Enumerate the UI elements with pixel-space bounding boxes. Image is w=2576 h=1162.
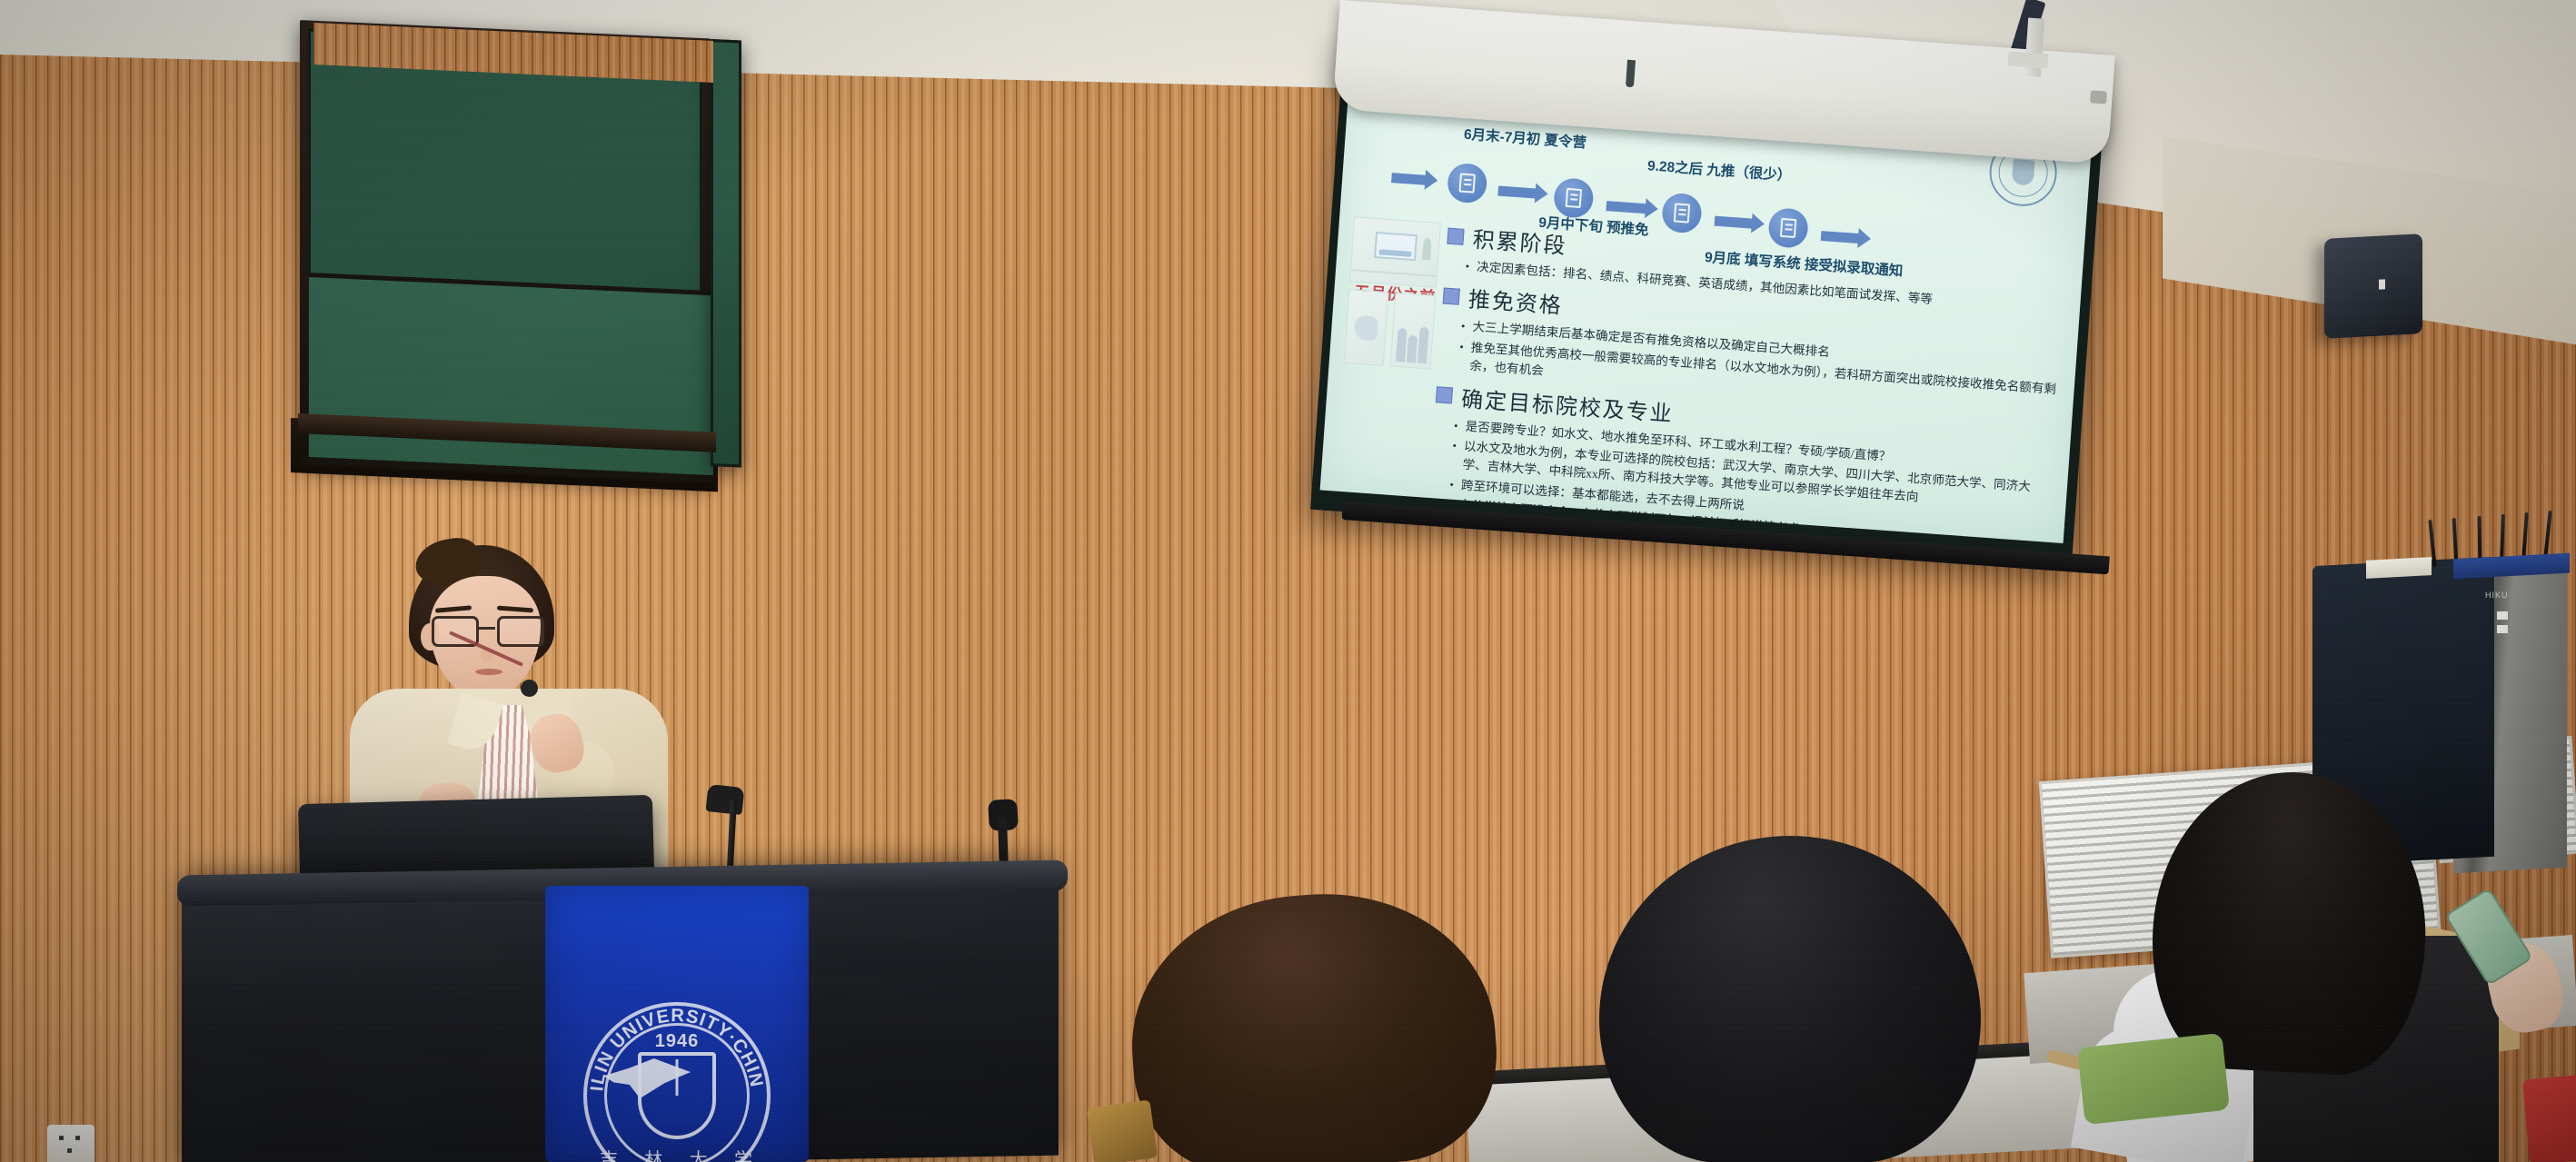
glasses-icon	[430, 616, 544, 647]
person-shape-icon	[1417, 327, 1428, 364]
rack-button-icon[interactable]	[2497, 611, 2508, 620]
bullet-dot-icon: •	[1453, 416, 1458, 435]
timeline-arrow-4	[1821, 231, 1860, 243]
thumbnail-hand-writing	[1344, 289, 1389, 366]
bullet-dot-icon: •	[1460, 317, 1466, 336]
thumbnail-row	[1343, 289, 1436, 377]
socket-hole	[59, 1136, 64, 1140]
seal-char: 吉	[600, 1145, 620, 1162]
person-shape-icon	[1407, 335, 1417, 363]
lecture-hall-scene: 准备阶段 6月末-7月初 夏令营 9.28之后 九推（很少） 9月中下旬 预推免…	[0, 0, 2576, 1162]
presenter-mouth	[475, 669, 502, 675]
timeline-node-1	[1447, 163, 1488, 204]
person-shape-icon	[1396, 328, 1407, 362]
section-title-2: 推免资格	[1467, 282, 1564, 320]
bullet-dot-icon: •	[1449, 475, 1455, 494]
blackboard-right-edge	[711, 39, 741, 468]
screen-ceiling-bracket	[2007, 51, 2048, 68]
document-icon	[1674, 203, 1690, 223]
server-rack-label: HIKU	[2485, 591, 2516, 599]
timeline-arrow-0	[1391, 173, 1427, 185]
section-square-bullet-icon	[1447, 227, 1464, 244]
thumbnail-desk-monitor	[1349, 216, 1441, 288]
socket-hole	[67, 1148, 72, 1153]
red-object-on-desk	[2522, 1074, 2576, 1162]
glasses-bridge	[479, 627, 495, 630]
desk-line	[1351, 269, 1437, 277]
seal-char: 学	[734, 1145, 754, 1162]
seal-char: 大	[690, 1145, 710, 1162]
thumbnail-students-study	[1390, 293, 1437, 370]
speaker-led-icon	[2379, 280, 2385, 290]
bullet-dot-icon: •	[1465, 257, 1470, 276]
seal-char: 林	[644, 1145, 664, 1162]
slide-thumbnail-group	[1343, 216, 1441, 376]
wall-power-socket[interactable]	[47, 1125, 94, 1162]
bullet-dot-icon: •	[1450, 437, 1457, 474]
blackboard-lower-panel	[309, 273, 713, 482]
headset-mic-capsule-icon	[521, 680, 538, 697]
bullet-dot-icon: •	[1457, 338, 1464, 375]
hand-shape-icon	[1353, 315, 1378, 342]
slide-body: 积累阶段 • 决定因素包括：排名、绩点、科研竞赛、英语成绩，其他因素比如笔面试发…	[1426, 216, 2067, 543]
timeline-node-2	[1553, 177, 1595, 219]
seal-year: 1946	[655, 1031, 700, 1052]
section-square-bullet-icon	[1436, 386, 1453, 403]
glasses-lens-right	[497, 616, 544, 647]
blackboard-right-surface	[711, 39, 741, 468]
monitor-shape-icon	[1374, 232, 1417, 262]
lectern-front-panel: JILIN UNIVERSITY·CHINA 1946 吉 林 大 学	[545, 886, 809, 1162]
small-object-on-desk	[1087, 1099, 1158, 1162]
document-icon	[1780, 218, 1796, 238]
timeline-label-1: 6月末-7月初 夏令营	[1463, 124, 1586, 153]
timeline-arrow-3	[1715, 216, 1754, 229]
document-icon	[1458, 173, 1475, 193]
equipment-white-box	[2366, 557, 2432, 579]
microphone-head-icon	[706, 784, 745, 815]
rack-button-icon[interactable]	[2497, 625, 2508, 633]
timeline-arrow-2	[1606, 201, 1646, 214]
timeline-node-3	[1661, 193, 1703, 234]
seal-inner-ring: 1946	[604, 1023, 750, 1162]
document-icon	[1566, 188, 1582, 208]
timeline-arrow-1	[1497, 186, 1537, 199]
green-bag	[2077, 1033, 2230, 1125]
jilin-university-seal: JILIN UNIVERSITY·CHINA 1946 吉 林 大 学	[583, 1002, 771, 1162]
plant-shape-icon	[1422, 238, 1432, 260]
socket-hole	[75, 1136, 80, 1140]
section-square-bullet-icon	[1443, 287, 1460, 304]
wall-speaker	[2324, 233, 2422, 339]
seal-chinese-name: 吉 林 大 学	[600, 1145, 754, 1162]
section-title-1: 积累阶段	[1472, 222, 1568, 260]
screen-housing-cap	[2090, 90, 2107, 104]
